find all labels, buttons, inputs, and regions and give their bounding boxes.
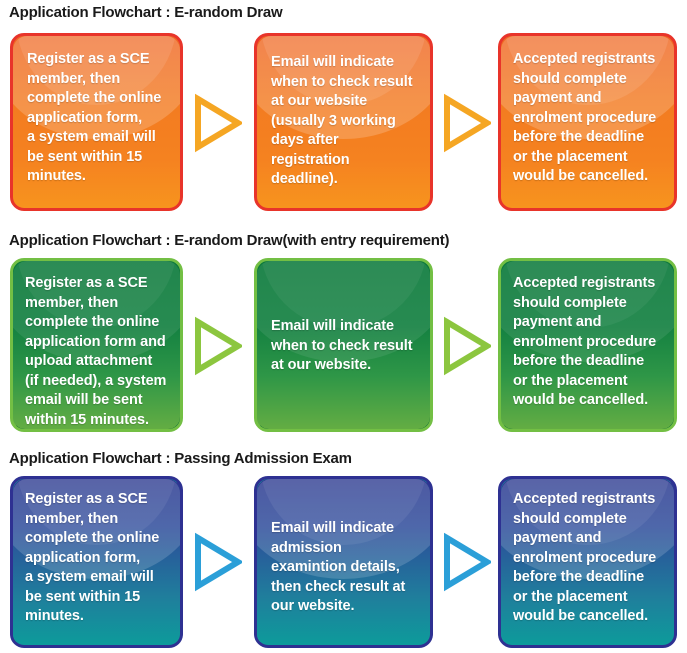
arrow-right-triangle-icon <box>439 93 491 153</box>
flow-node-step-payment: Accepted registrants should complete pay… <box>498 33 677 211</box>
arrow-right-triangle-icon <box>190 532 242 592</box>
flow-node-step-payment: Accepted registrants should complete pay… <box>498 258 677 432</box>
flow-node-step-register: Register as a SCE member, then complete … <box>10 258 183 432</box>
arrow-right-triangle-icon <box>190 93 242 153</box>
arrow-right-triangle-icon <box>439 316 491 376</box>
section-title: Application Flowchart : E-random Draw <box>9 4 282 21</box>
flow-node-text: Accepted registrants should complete pay… <box>501 36 674 187</box>
flow-node-step-email-notice: Email will indicate when to check result… <box>254 33 433 211</box>
flow-node-text: Register as a SCE member, then complete … <box>13 36 180 187</box>
flow-node-text: Email will indicate admission examintion… <box>257 479 430 617</box>
flow-node-text: Accepted registrants should complete pay… <box>501 479 674 627</box>
flow-node-text: Register as a SCE member, then complete … <box>13 261 180 430</box>
flow-node-text: Email will indicate when to check result… <box>257 261 430 376</box>
section-title: Application Flowchart : E-random Draw(wi… <box>9 232 449 249</box>
flow-node-step-register: Register as a SCE member, then complete … <box>10 476 183 648</box>
arrow-right-triangle-icon <box>439 532 491 592</box>
flow-node-step-email-notice: Email will indicate admission examintion… <box>254 476 433 648</box>
flow-node-step-payment: Accepted registrants should complete pay… <box>498 476 677 648</box>
flow-node-text: Accepted registrants should complete pay… <box>501 261 674 411</box>
flow-node-step-register: Register as a SCE member, then complete … <box>10 33 183 211</box>
flow-node-text: Register as a SCE member, then complete … <box>13 479 180 627</box>
flow-node-step-email-notice: Email will indicate when to check result… <box>254 258 433 432</box>
flow-node-text: Email will indicate when to check result… <box>257 36 430 190</box>
arrow-right-triangle-icon <box>190 316 242 376</box>
section-title: Application Flowchart : Passing Admissio… <box>9 450 352 467</box>
